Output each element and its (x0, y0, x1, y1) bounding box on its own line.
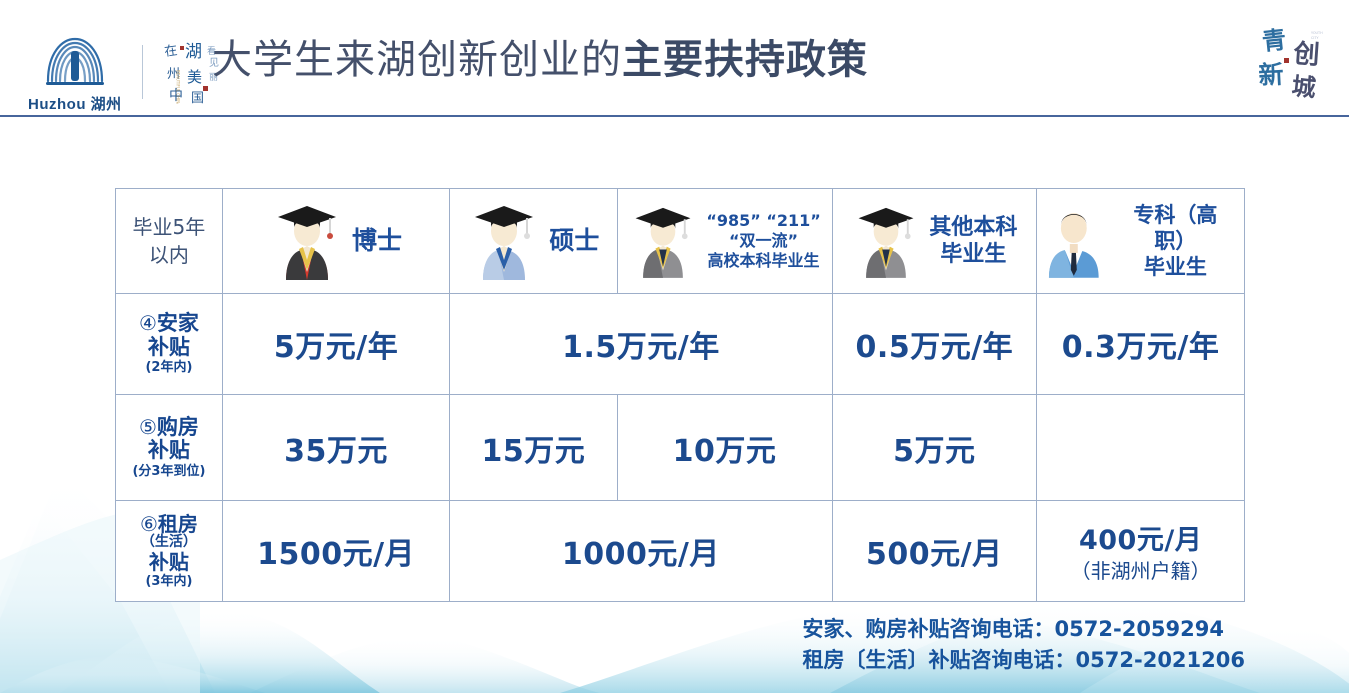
cell-purchase-college (1037, 395, 1245, 501)
row3-note: (3年内) (116, 575, 222, 590)
graduate-master-icon (467, 200, 541, 282)
row-label-settling-allowance: ④安家 补贴 (2年内) (116, 294, 223, 395)
svg-text:创: 创 (1292, 39, 1321, 71)
svg-text:湖: 湖 (185, 42, 202, 62)
page-header: Huzhou 湖州 在 湖 看 见 州 美 丽 中 国 BEAUTIFUL CH… (0, 0, 1349, 116)
cell-settling-other-bachelor: 0.5万元/年 (832, 294, 1037, 395)
huzhou-arch-mark-icon (42, 30, 108, 92)
row-label-rental-subsidy: ⑥租房 （生活） 补贴 (3年内) (116, 501, 223, 602)
graduate-bachelor-icon (851, 200, 921, 282)
svg-text:国: 国 (191, 91, 204, 104)
column-header-college-label: 专科（高职） 毕业生 (1113, 202, 1238, 281)
cell-purchase-top-bachelor: 10万元 (617, 395, 832, 501)
huzhou-logo-text: Huzhou 湖州 (28, 93, 122, 114)
contact-line-settling-purchase: 安家、购房补贴咨询电话：0572-2059294 (803, 614, 1245, 645)
row2-name2: 补贴 (116, 439, 222, 463)
cell-rental-college: 400元/月 （非湖州户籍） (1037, 501, 1245, 602)
table-header-row: 毕业5年 以内 (116, 189, 1245, 294)
top-bachelor-line3: 高校本科毕业生 (708, 251, 820, 270)
page-title-emphasis: 主要扶持政策 (622, 37, 868, 83)
row3-num: ⑥ (140, 512, 158, 536)
cell-purchase-doctor: 35万元 (222, 395, 449, 501)
page-title: 大学生来湖创新创业的主要扶持政策 (212, 36, 868, 84)
row3-name1: 租房 (158, 512, 198, 536)
row2-num: ⑤ (139, 415, 157, 439)
cell-rental-doctor: 1500元/月 (222, 501, 449, 602)
corner-label-line2: 以内 (116, 241, 222, 269)
other-bachelor-line2: 毕业生 (940, 242, 1006, 267)
cell-purchase-other-bachelor: 5万元 (832, 395, 1037, 501)
svg-text:YOUTH: YOUTH (1311, 31, 1323, 35)
graduate-bachelor-icon (628, 200, 698, 282)
cell-settling-doctor: 5万元/年 (222, 294, 449, 395)
row1-name2: 补贴 (116, 336, 222, 360)
college-line2: 毕业生 (1144, 255, 1207, 279)
row2-name1: 购房 (157, 415, 199, 439)
row2-note: (分3年到位) (116, 465, 222, 480)
row-label-home-purchase-subsidy: ⑤购房 补贴 (分3年到位) (116, 395, 223, 501)
svg-text:青: 青 (1261, 25, 1288, 56)
cell-rental-other-bachelor: 500元/月 (832, 501, 1037, 602)
huzhou-logo: Huzhou 湖州 在 湖 看 见 州 美 丽 中 国 BEAUTIFUL CH… (28, 30, 225, 114)
cell-rental-master-topbachelor: 1000元/月 (450, 501, 832, 602)
other-bachelor-line1: 其他本科 (929, 215, 1017, 240)
contact-info: 安家、购房补贴咨询电话：0572-2059294 租房〔生活〕补贴咨询电话：05… (803, 614, 1245, 676)
row1-num: ④ (139, 311, 157, 335)
policy-table: 毕业5年 以内 (115, 188, 1245, 602)
corner-label-line1: 毕业5年 (116, 213, 222, 241)
column-header-top-bachelor: “985” “211” “双一流” 高校本科毕业生 (617, 189, 832, 294)
column-header-other-bachelor-label: 其他本科 毕业生 (929, 214, 1017, 269)
table-row-rental-subsidy: ⑥租房 （生活） 补贴 (3年内) 1500元/月 1000元/月 500元/月… (116, 501, 1245, 602)
table-row-settling-allowance: ④安家 补贴 (2年内) 5万元/年 1.5万元/年 0.5万元/年 0.3万元… (116, 294, 1245, 395)
contact-line-rental: 租房〔生活〕补贴咨询电话：0572-2021206 (803, 645, 1245, 676)
column-header-master: 硕士 (450, 189, 617, 294)
cell-settling-college: 0.3万元/年 (1037, 294, 1245, 395)
column-header-top-bachelor-label: “985” “211” “双一流” 高校本科毕业生 (706, 211, 820, 271)
row1-note: (2年内) (116, 361, 222, 376)
top-bachelor-line2: “双一流” (729, 231, 798, 250)
svg-text:美: 美 (187, 68, 202, 86)
top-bachelor-line1: “985” “211” (706, 211, 820, 230)
svg-text:城: 城 (1290, 71, 1317, 102)
cell-purchase-master: 15万元 (450, 395, 617, 501)
header-divider-rule (0, 115, 1349, 117)
professional-suit-icon (1043, 202, 1105, 280)
cell-rental-college-value: 400元/月 (1079, 525, 1202, 556)
column-header-doctor-label: 博士 (352, 225, 402, 256)
svg-text:BEAUTIFUL CHINA: BEAUTIFUL CHINA (175, 70, 180, 104)
column-header-college: 专科（高职） 毕业生 (1037, 189, 1245, 294)
row1-name1: 安家 (157, 311, 199, 335)
column-header-doctor: 博士 (222, 189, 449, 294)
qingchuang-xincheng-brand-icon: 青 创 新 城 YOUTH CITY (1253, 22, 1331, 102)
college-line1: 专科（高职） (1133, 203, 1217, 253)
svg-text:新: 新 (1258, 60, 1284, 90)
graduate-doctor-icon (270, 200, 344, 282)
cell-rental-college-note: （非湖州户籍） (1037, 555, 1244, 584)
table-row-home-purchase-subsidy: ⑤购房 补贴 (分3年到位) 35万元 15万元 10万元 5万元 (116, 395, 1245, 501)
row3-name2: 补贴 (116, 551, 222, 573)
page-title-normal: 大学生来湖创新创业的 (212, 37, 622, 83)
table-corner-label: 毕业5年 以内 (116, 189, 223, 294)
svg-text:CITY: CITY (1311, 36, 1319, 40)
logo-divider (142, 45, 143, 99)
column-header-other-bachelor: 其他本科 毕业生 (832, 189, 1037, 294)
svg-text:在: 在 (163, 43, 178, 60)
column-header-master-label: 硕士 (549, 225, 599, 256)
row3-name-sub: （生活） (116, 535, 222, 551)
cell-settling-master-topbachelor: 1.5万元/年 (450, 294, 832, 395)
